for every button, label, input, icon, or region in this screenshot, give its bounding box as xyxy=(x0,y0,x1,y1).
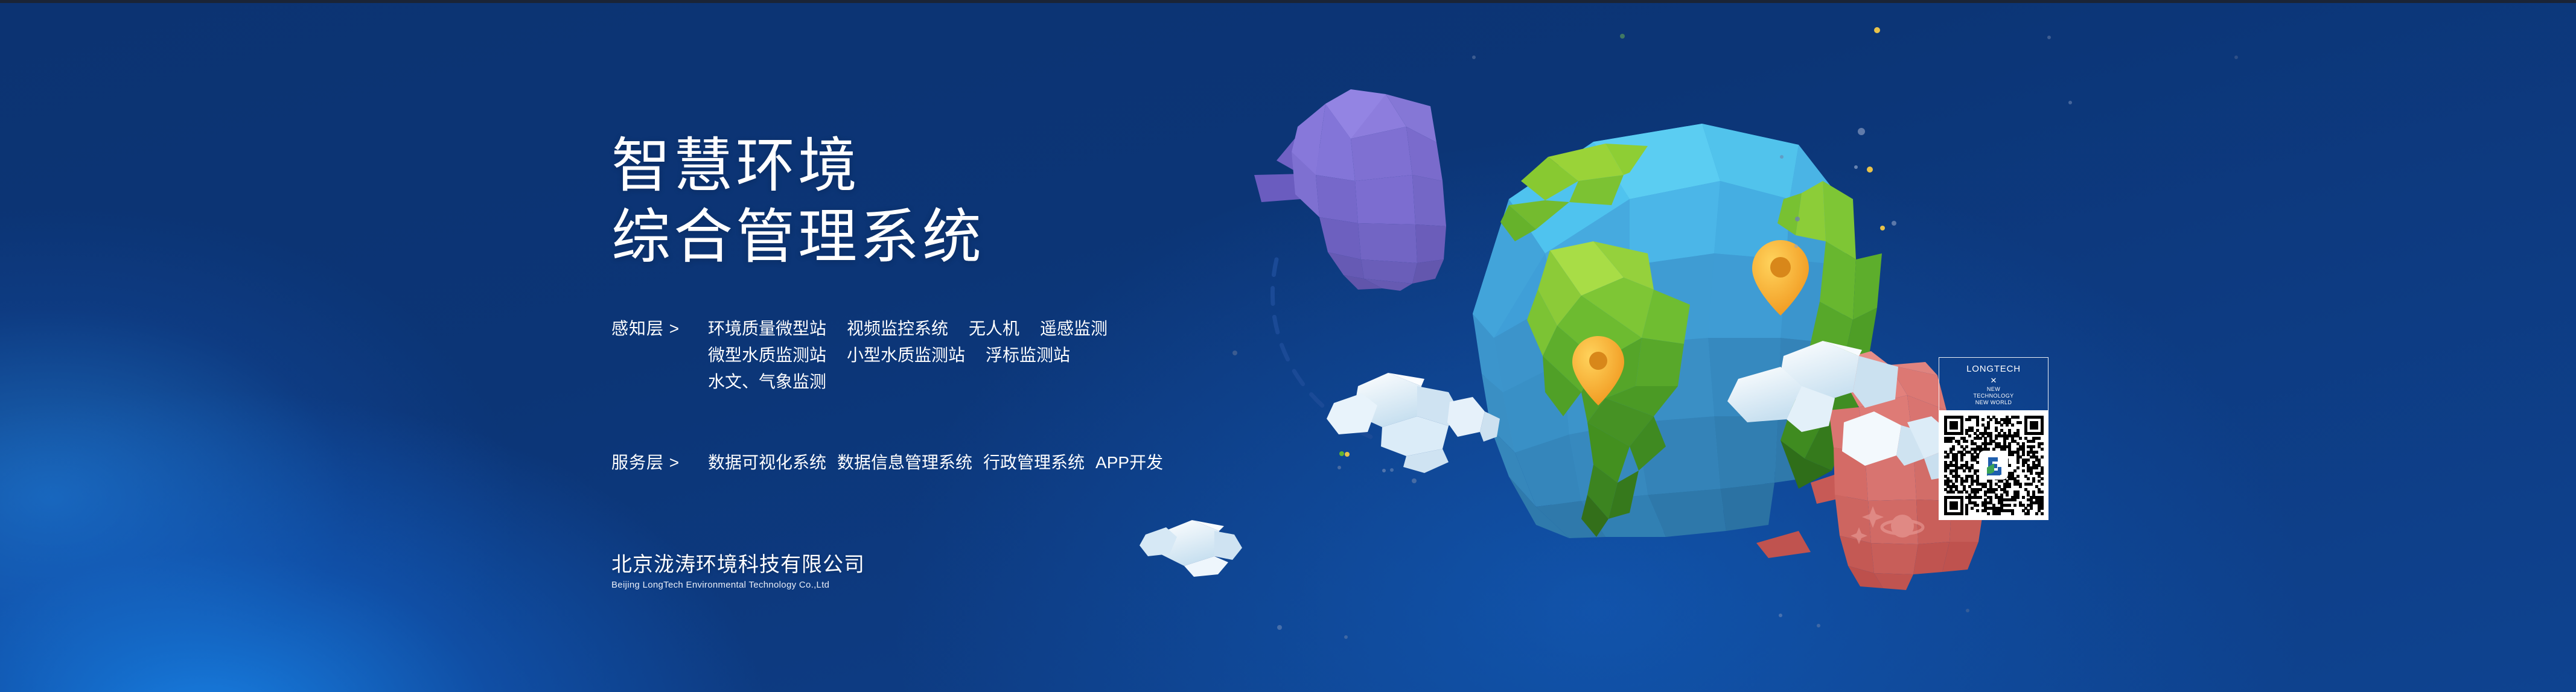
layer-item[interactable]: 水文、气象监测 xyxy=(708,369,826,395)
map-pin xyxy=(1572,336,1624,405)
company-block: 北京泷涛环境科技有限公司 Beijing LongTech Environmen… xyxy=(611,552,865,592)
layer-item[interactable]: 视频监控系统 xyxy=(847,316,948,342)
layer-line: 数据可视化系统 数据信息管理系统 行政管理系统 APP开发 xyxy=(708,449,1245,476)
tagline-line2: TECHNOLOGY xyxy=(1939,393,2048,399)
cloud-cluster-left xyxy=(1327,373,1500,473)
layer-label-service: 服务层 > xyxy=(611,449,708,476)
layer-list: 感知层 > 环境质量微型站 视频监控系统 无人机 遥感监测 微型水质监测站 小型… xyxy=(611,316,1245,476)
brand-name: LONGTECH xyxy=(1939,363,2048,375)
orbit-arc xyxy=(1272,259,1388,443)
hero-banner: 智慧环境 综合管理系统 感知层 > 环境质量微型站 视频监控系统 无人机 遥感监… xyxy=(0,0,2576,692)
tagline-line1: NEW xyxy=(1939,386,2048,393)
qr-center-logo-icon xyxy=(1980,452,2007,478)
company-name-cn: 北京泷涛环境科技有限公司 xyxy=(611,552,865,577)
layer-label-perception: 感知层 > xyxy=(611,316,708,342)
layer-item[interactable]: 无人机 xyxy=(969,316,1019,342)
qr-code-icon[interactable] xyxy=(1944,416,2043,515)
layer-item[interactable]: 微型水质监测站 xyxy=(708,342,826,369)
layer-item[interactable]: 小型水质监测站 xyxy=(847,342,965,369)
hero-copy: 智慧环境 综合管理系统 感知层 > 环境质量微型站 视频监控系统 无人机 遥感监… xyxy=(611,130,1245,476)
layer-item[interactable]: 浮标监测站 xyxy=(986,342,1070,369)
qr-card-header: LONGTECH ✕ NEW TECHNOLOGY NEW WORLD xyxy=(1939,357,2048,410)
layer-items-service: 数据可视化系统 数据信息管理系统 行政管理系统 APP开发 xyxy=(708,449,1245,476)
layer-row-perception: 感知层 > 环境质量微型站 视频监控系统 无人机 遥感监测 微型水质监测站 小型… xyxy=(611,316,1245,395)
top-strip xyxy=(0,0,2576,3)
cross-icon: ✕ xyxy=(1939,375,2048,386)
star-field xyxy=(1232,27,2238,639)
layer-item[interactable]: 遥感监测 xyxy=(1040,316,1108,342)
layer-item[interactable]: 数据可视化系统 xyxy=(708,449,826,476)
layer-item[interactable]: 环境质量微型站 xyxy=(708,316,826,342)
layer-items-perception: 环境质量微型站 视频监控系统 无人机 遥感监测 微型水质监测站 小型水质监测站 … xyxy=(708,316,1245,395)
hero-title-line1: 智慧环境 xyxy=(611,130,1245,201)
tagline-line3: NEW WORLD xyxy=(1939,399,2048,406)
layer-item[interactable]: 数据信息管理系统 xyxy=(837,449,972,476)
layer-item[interactable]: 行政管理系统 xyxy=(983,449,1085,476)
space-illustration xyxy=(0,0,2576,692)
qr-code-box[interactable] xyxy=(1939,410,2048,520)
cloud-small-bottom xyxy=(1140,520,1242,577)
layer-line: 环境质量微型站 视频监控系统 无人机 遥感监测 xyxy=(708,316,1245,342)
purple-planet xyxy=(1254,89,1446,291)
saturn-motif xyxy=(1851,506,1923,544)
qr-card: LONGTECH ✕ NEW TECHNOLOGY NEW WORLD xyxy=(1939,357,2048,520)
layer-line: 水文、气象监测 xyxy=(708,369,1245,395)
cloud-cluster-right xyxy=(1727,341,1956,480)
company-name-en: Beijing LongTech Environmental Technolog… xyxy=(611,579,865,592)
low-poly-globe xyxy=(1473,124,1882,538)
layer-line: 微型水质监测站 小型水质监测站 浮标监测站 xyxy=(708,342,1245,369)
layer-item[interactable]: APP开发 xyxy=(1095,449,1163,476)
layer-row-service: 服务层 > 数据可视化系统 数据信息管理系统 行政管理系统 APP开发 xyxy=(611,449,1245,476)
map-pin xyxy=(1752,240,1809,316)
hero-title-line2: 综合管理系统 xyxy=(611,201,1245,272)
